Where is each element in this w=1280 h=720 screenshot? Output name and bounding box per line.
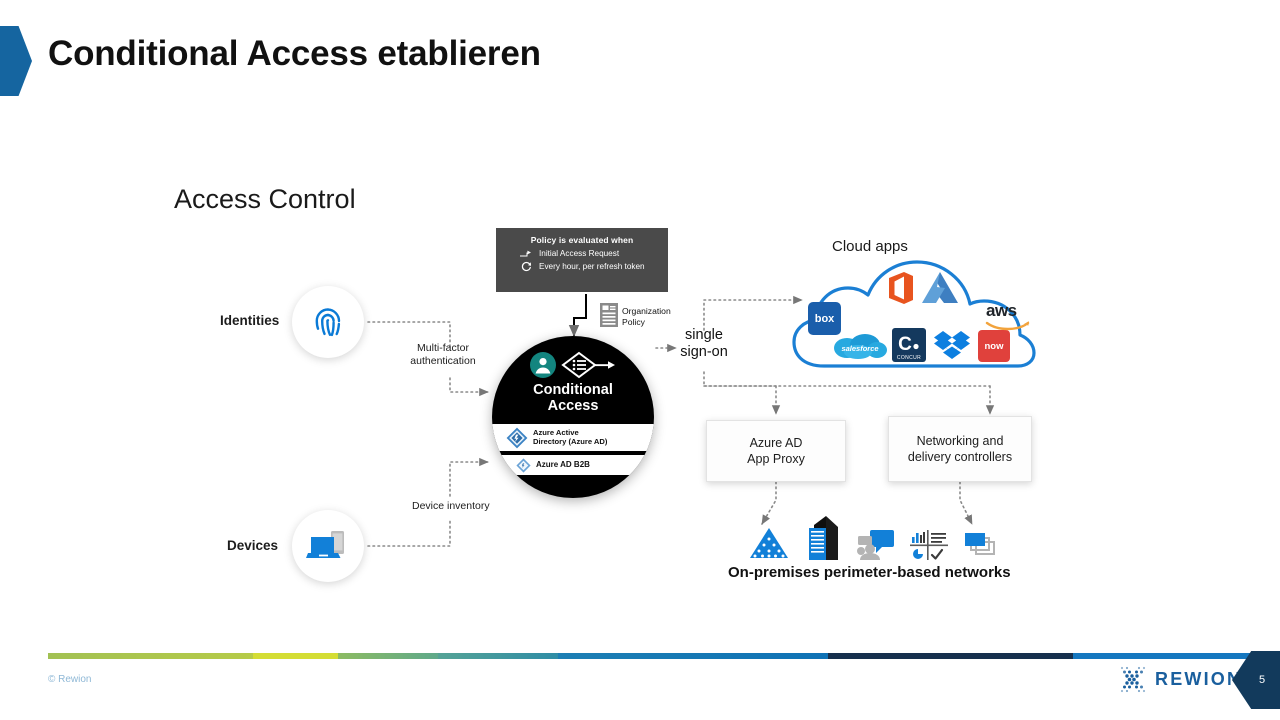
salesforce-icon: salesforce <box>832 334 888 360</box>
building-icon <box>806 516 840 560</box>
conditional-access-band-aad: Azure Active Directory (Azure AD) <box>492 424 654 451</box>
servers-icon <box>964 532 998 560</box>
box-label: box <box>815 313 835 325</box>
conditional-access-node: Conditional Access Azure Active Director… <box>492 336 654 498</box>
azure-ad-b2b-icon <box>516 458 531 473</box>
cloud-apps-title: Cloud apps <box>832 238 908 255</box>
organization-policy-line1: Organization <box>622 306 671 317</box>
concur-icon: C CONCUR <box>892 328 926 362</box>
page-title: Conditional Access etablieren <box>48 34 541 74</box>
azure-ad-app-proxy-line1: Azure AD <box>747 435 805 451</box>
sso-line2: sign-on <box>676 344 732 361</box>
svg-text:CONCUR: CONCUR <box>897 355 921 361</box>
copyright-text: © Rewion <box>48 674 92 685</box>
rewion-logo-text: REWION <box>1155 669 1242 690</box>
section-heading: Access Control <box>174 184 356 215</box>
office-icon <box>886 272 914 304</box>
devices-badge <box>292 510 364 582</box>
organization-policy-icon <box>600 303 618 327</box>
footer-bar-segment <box>338 653 438 659</box>
reports-icon <box>910 530 948 560</box>
conditional-access-title-line2: Access <box>492 398 654 414</box>
footer-bar-segment <box>438 653 558 659</box>
mfa-label-line2: authentication <box>398 355 488 368</box>
footer-bar-segment <box>558 653 828 659</box>
device-inventory-label: Device inventory <box>412 500 490 512</box>
networking-delivery-controllers-box: Networking and delivery controllers <box>888 416 1032 482</box>
dropbox-icon <box>934 330 970 362</box>
footer-gradient-bar <box>48 653 1270 659</box>
rewion-mark-icon <box>1118 664 1148 694</box>
azure-ad-app-proxy-line2: App Proxy <box>747 451 805 467</box>
policy-evaluation-box: Policy is evaluated when Initial Access … <box>496 228 668 292</box>
mfa-label: Multi-factor authentication <box>398 342 488 368</box>
fingerprint-icon <box>310 303 346 341</box>
azure-ad-app-proxy-box: Azure AD App Proxy <box>706 420 846 482</box>
azure-ad-b2b-band-label: Azure AD B2B <box>536 460 590 469</box>
page-number-badge: 5 <box>1232 651 1280 709</box>
slide-canvas: Conditional Access etablieren Access Con… <box>0 0 1280 720</box>
single-sign-on-label: single sign-on <box>676 327 732 362</box>
footer-bar-segment <box>828 653 1073 659</box>
box-icon: box <box>808 302 841 335</box>
servicenow-icon: now <box>978 330 1010 362</box>
azure-ad-band-label: Azure Active Directory (Azure AD) <box>533 429 607 446</box>
conditional-access-title: Conditional Access <box>492 382 654 414</box>
footer-bar-segment <box>1073 653 1270 659</box>
policy-row-initial-access: Initial Access Request <box>506 249 658 258</box>
footer-bar-segment <box>253 653 338 659</box>
policy-diamond-icon <box>562 352 616 378</box>
mfa-label-line1: Multi-factor <box>398 342 488 355</box>
devices-label: Devices <box>227 538 278 553</box>
user-avatar-icon <box>530 352 556 378</box>
conditional-access-icons <box>492 352 654 378</box>
footer-bar-segment <box>48 653 253 659</box>
svg-text:C: C <box>898 334 912 355</box>
conditional-access-band-b2b: Azure AD B2B <box>492 455 654 475</box>
users-chat-icon <box>856 530 894 560</box>
aws-label: aws <box>986 302 1032 319</box>
identities-label: Identities <box>220 313 279 328</box>
refresh-circle-icon <box>520 261 532 272</box>
policy-row-label: Initial Access Request <box>539 249 619 258</box>
servicenow-label: now <box>985 341 1004 352</box>
rewion-logo: REWION <box>1118 664 1242 694</box>
azure-ad-icon <box>506 427 528 449</box>
policy-row-refresh-token: Every hour, per refresh token <box>506 261 658 272</box>
cloud-apps-group: box salesforce C CONCUR <box>790 258 1038 374</box>
laptop-phone-icon <box>307 529 349 563</box>
arrow-right-icon <box>520 250 532 258</box>
networking-line1: Networking and <box>908 433 1012 449</box>
conditional-access-title-line1: Conditional <box>492 382 654 398</box>
sso-line1: single <box>676 327 732 344</box>
azure-ad-band-line2: Directory (Azure AD) <box>533 438 607 447</box>
organization-policy-label: Organization Policy <box>622 306 671 327</box>
organization-policy-line2: Policy <box>622 317 671 328</box>
datacenter-icon <box>748 526 790 560</box>
policy-box-title: Policy is evaluated when <box>506 235 658 245</box>
identities-badge <box>292 286 364 358</box>
policy-row-label: Every hour, per refresh token <box>539 262 645 271</box>
aws-icon: aws <box>986 302 1032 332</box>
azure-icon <box>922 272 958 304</box>
networking-line2: delivery controllers <box>908 449 1012 465</box>
onprem-caption: On-premises perimeter-based networks <box>728 564 1011 581</box>
onprem-icon-row <box>748 516 998 560</box>
title-accent-chevron-icon <box>0 26 32 96</box>
svg-text:salesforce: salesforce <box>841 344 878 353</box>
